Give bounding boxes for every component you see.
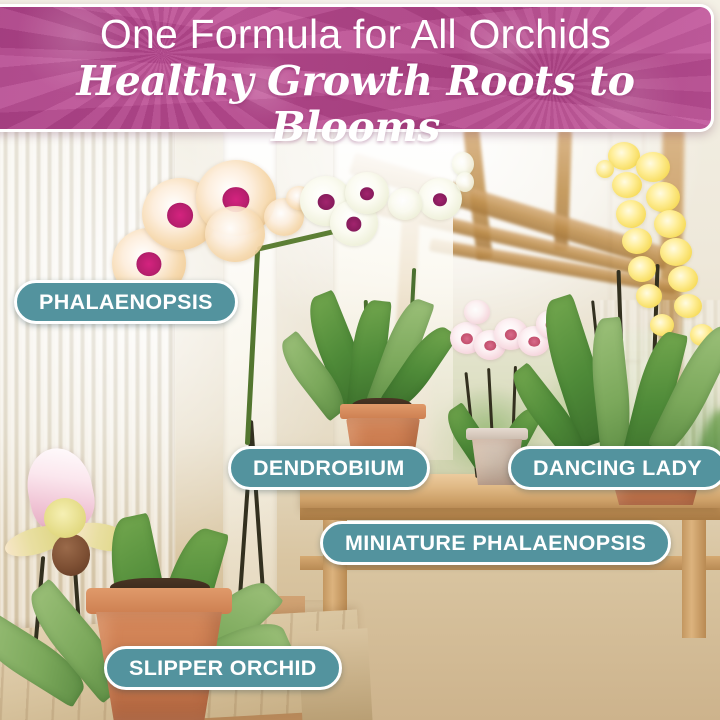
orchid-promo-poster: One Formula for All Orchids Healthy Grow…	[0, 0, 720, 720]
orchid-bloom	[636, 152, 670, 182]
slipper-staminode	[44, 498, 86, 538]
orchid-bud	[456, 172, 474, 192]
pot-rim	[466, 428, 528, 440]
orchid-bloom	[612, 172, 642, 198]
pot-rim	[340, 404, 426, 419]
callout-miniature-phalaenopsis[interactable]: MINIATURE PHALAENOPSIS	[320, 521, 671, 565]
orchid-bud	[596, 160, 614, 178]
orchid-bloom	[660, 238, 692, 266]
bloom-center	[433, 193, 447, 206]
banner-subheadline: Healthy Growth Roots to Blooms	[0, 59, 711, 151]
callout-dendrobium[interactable]: DENDROBIUM	[228, 446, 430, 490]
bloom-center	[167, 203, 193, 227]
bench-edge	[300, 506, 720, 520]
header-banner: One Formula for All Orchids Healthy Grow…	[0, 4, 714, 132]
bloom-center	[484, 340, 496, 351]
pot-rim	[86, 588, 232, 614]
bloom-center	[505, 329, 517, 341]
orchid-bloom	[622, 228, 652, 254]
banner-headline: One Formula for All Orchids	[0, 12, 711, 58]
orchid-bloom	[636, 284, 662, 308]
orchid-bloom	[345, 172, 389, 214]
orchid-bloom	[616, 200, 646, 228]
bloom-center	[360, 187, 374, 200]
orchid-bloom	[205, 206, 265, 262]
bench-leg	[682, 508, 706, 638]
orchid-bloom	[668, 266, 698, 292]
callout-slipper-orchid[interactable]: SLIPPER ORCHID	[104, 646, 342, 690]
orchid-bloom	[646, 182, 680, 212]
orchid-bloom	[654, 210, 686, 238]
bloom-center	[318, 194, 335, 210]
orchid-bud	[464, 300, 490, 324]
bloom-center	[461, 333, 473, 345]
orchid-bud	[388, 188, 422, 220]
orchid-bloom	[628, 256, 656, 282]
bloom-center	[346, 217, 361, 232]
callout-dancing-lady[interactable]: DANCING LADY	[508, 446, 720, 490]
callout-phalaenopsis[interactable]: PHALAENOPSIS	[14, 280, 238, 324]
bloom-center	[136, 252, 161, 276]
bloom-center	[528, 336, 540, 347]
orchid-bloom	[674, 294, 702, 318]
slipper-pouch	[52, 534, 90, 576]
